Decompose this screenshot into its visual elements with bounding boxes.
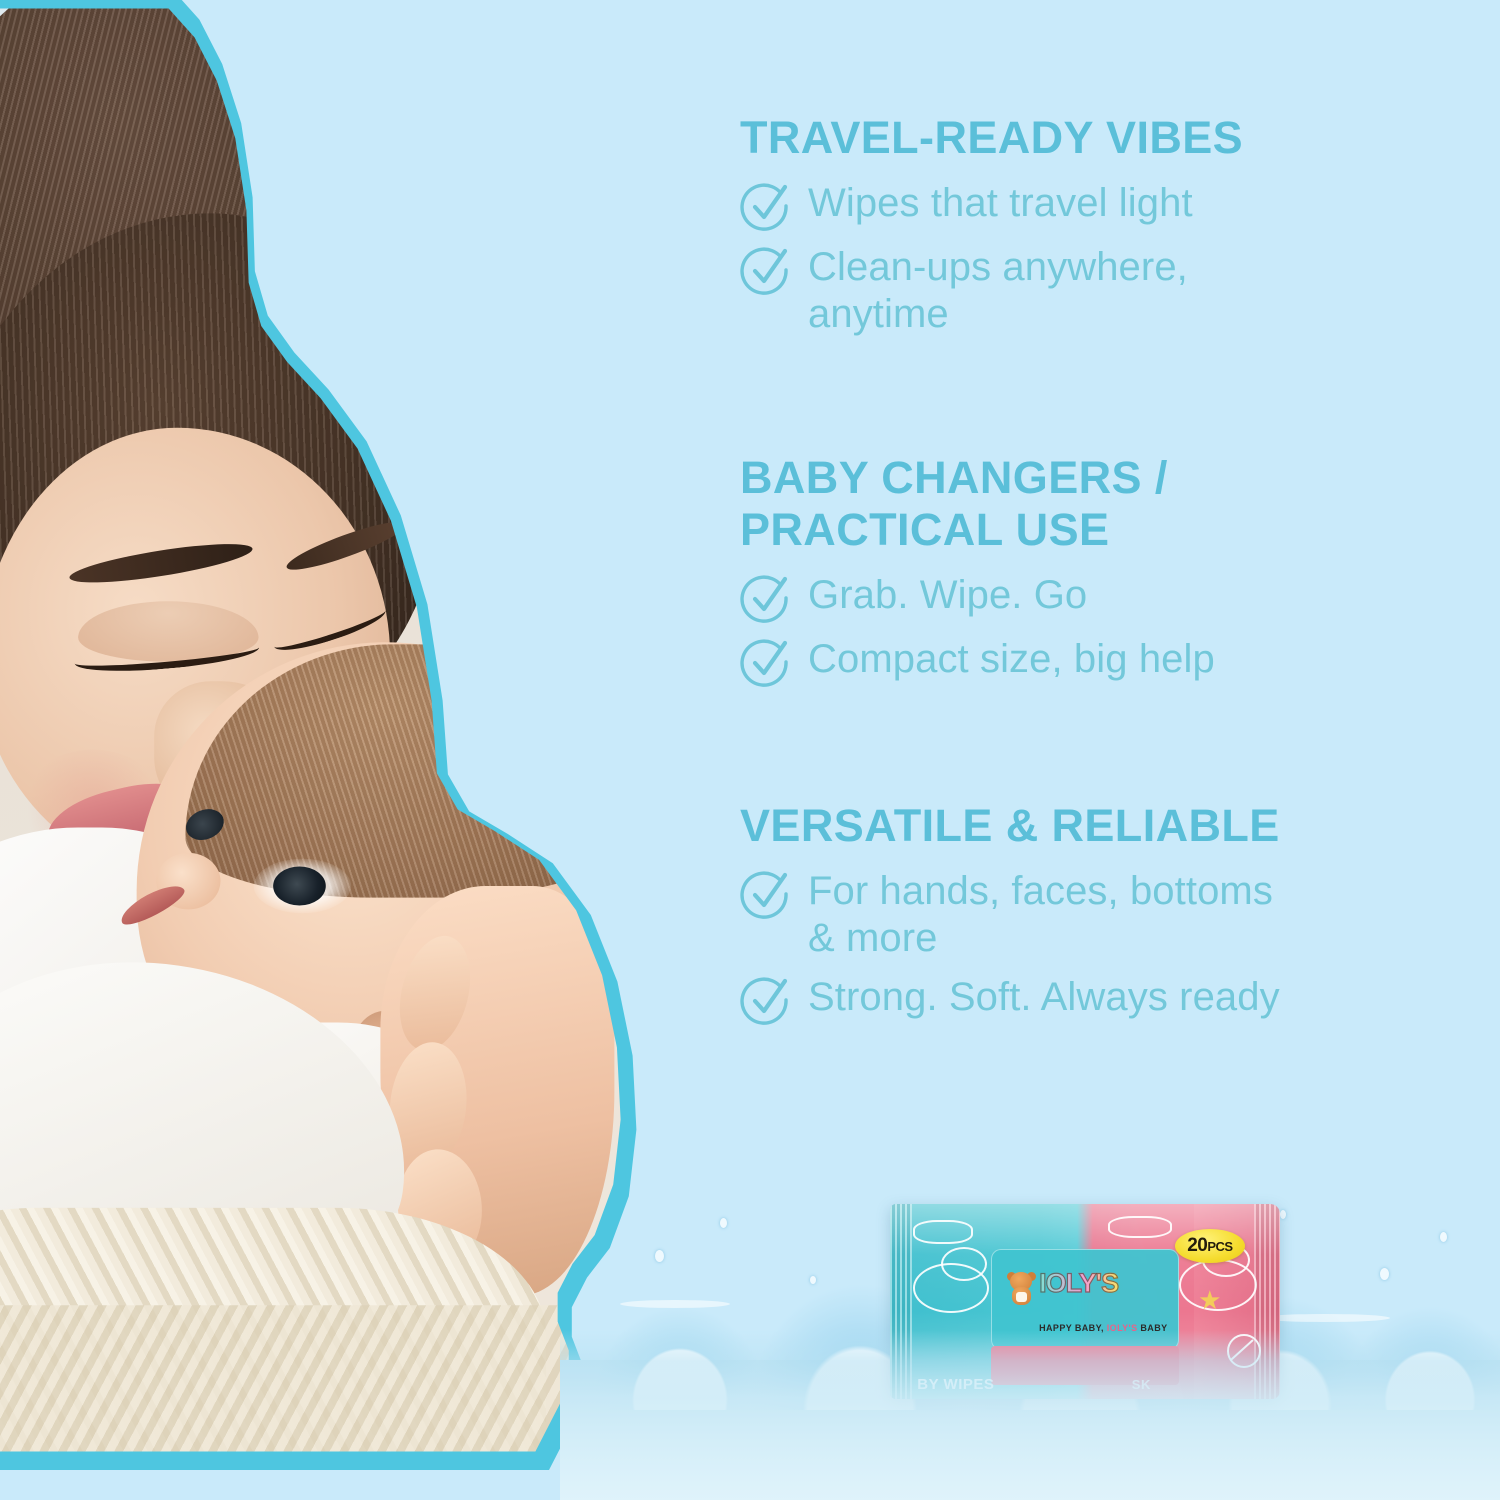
package-front-text: BY WIPES [917, 1376, 994, 1393]
brand-name: IOLY'S [1039, 1268, 1167, 1321]
section-heading: VERSATILE & RELIABLE [740, 800, 1440, 852]
bullet-item: Grab. Wipe. Go [740, 570, 1440, 624]
check-circle-icon [740, 244, 792, 296]
tagline-brand: IOLY'S [1107, 1323, 1138, 1333]
no-flush-icon [1227, 1334, 1261, 1368]
bullet-text: Clean-ups anywhere, anytime [808, 242, 1188, 338]
check-circle-icon [740, 180, 792, 232]
product-package: IOLY'S HAPPY BABY, IOLY'S BABY 20PCS ★ B… [890, 1204, 1280, 1399]
bullet-item: Compact size, big help [740, 634, 1440, 688]
bullet-text: Strong. Soft. Always ready [808, 972, 1280, 1021]
bullet-text: For hands, faces, bottoms & more [808, 866, 1273, 962]
section-heading: TRAVEL-READY VIBES [740, 112, 1440, 164]
bullet-text: Grab. Wipe. Go [808, 570, 1087, 619]
bullet-text: Wipes that travel light [808, 178, 1193, 227]
section-baby-changers: BABY CHANGERS / PRACTICAL USE Grab. Wipe… [740, 452, 1440, 698]
check-circle-icon [740, 974, 792, 1026]
brand-tagline: HAPPY BABY, IOLY'S BABY [1039, 1323, 1170, 1333]
count-number: 20 [1187, 1235, 1207, 1257]
count-unit: PCS [1207, 1239, 1232, 1254]
brand-logo: IOLY'S HAPPY BABY, IOLY'S BABY [1003, 1268, 1167, 1321]
infographic-canvas: TRAVEL-READY VIBES Wipes that travel lig… [0, 0, 1500, 1500]
bullet-item: Wipes that travel light [740, 178, 1440, 232]
tagline-suffix: BABY [1138, 1323, 1168, 1333]
package-front-text-secondary: SK [1132, 1377, 1151, 1392]
bullet-item: Clean-ups anywhere, anytime [740, 242, 1440, 338]
bullet-text: Compact size, big help [808, 634, 1215, 683]
feature-list: TRAVEL-READY VIBES Wipes that travel lig… [740, 0, 1440, 1150]
bullet-item: For hands, faces, bottoms & more [740, 866, 1440, 962]
check-circle-icon [740, 868, 792, 920]
check-circle-icon [740, 636, 792, 688]
section-heading: BABY CHANGERS / PRACTICAL USE [740, 452, 1440, 556]
teddy-bear-icon [1006, 1272, 1036, 1306]
check-circle-icon [740, 572, 792, 624]
bullet-item: Strong. Soft. Always ready [740, 972, 1440, 1026]
section-travel-ready: TRAVEL-READY VIBES Wipes that travel lig… [740, 112, 1440, 348]
section-versatile: VERSATILE & RELIABLE For hands, faces, b… [740, 800, 1440, 1036]
tagline-prefix: HAPPY BABY, [1039, 1323, 1107, 1333]
